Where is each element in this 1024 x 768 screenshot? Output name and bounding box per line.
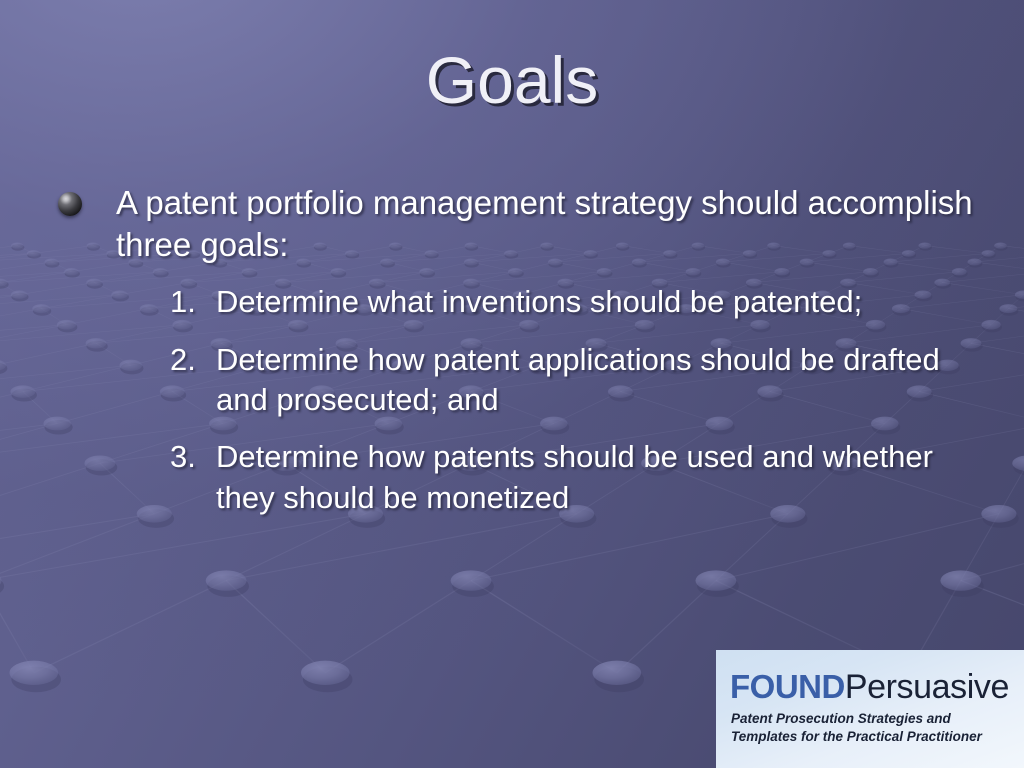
presentation-slide: Goals A patent portfolio management stra… [0,0,1024,768]
title-area: Goals [0,46,1024,115]
list-item: 2. Determine how patent applications sho… [170,340,988,421]
bullet-text: A patent portfolio management strategy s… [116,182,988,266]
list-item-text: Determine how patents should be used and… [216,437,976,518]
brand-logo: FOUNDPersuasive Patent Prosecution Strat… [716,650,1024,768]
list-item-number: 1. [170,282,216,322]
list-item-number: 2. [170,340,216,380]
top-level-bullet: A patent portfolio management strategy s… [58,182,988,266]
logo-word-primary: FOUND [730,668,845,705]
logo-word-secondary: Persuasive [845,668,1009,706]
list-item: 3. Determine how patents should be used … [170,437,988,518]
page-title: Goals [426,46,598,115]
list-item-number: 3. [170,437,216,477]
list-item-text: Determine what inventions should be pate… [216,282,976,322]
logo-wordmark: FOUNDPersuasive [730,668,1009,707]
logo-tagline: Patent Prosecution Strategies and Templa… [731,710,1013,746]
slide-body: A patent portfolio management strategy s… [58,182,988,518]
numbered-list: 1. Determine what inventions should be p… [170,282,988,517]
list-item: 1. Determine what inventions should be p… [170,282,988,322]
list-item-text: Determine how patent applications should… [216,340,976,421]
sphere-bullet-icon [58,192,82,216]
